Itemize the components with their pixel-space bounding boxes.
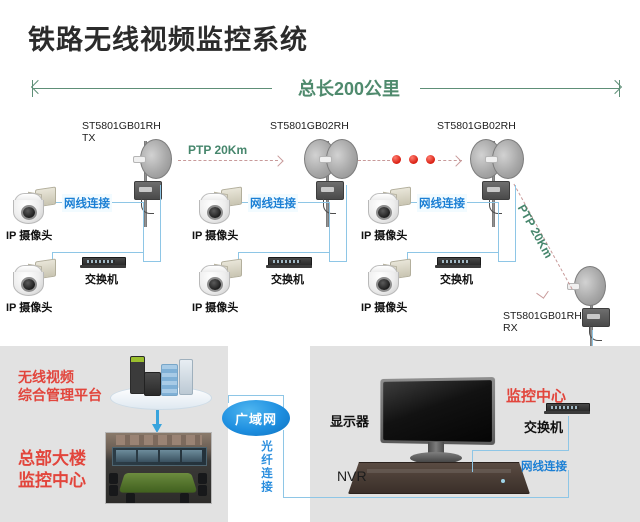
cable-switch-to-radio-v xyxy=(346,185,347,262)
cable-switch-fiber-v xyxy=(568,470,569,498)
switch-ports-icon xyxy=(273,260,301,263)
center-switch-label: 交换机 xyxy=(524,421,563,434)
ip-camera-label: IP 摄像头 xyxy=(192,302,238,315)
camera-lens-icon xyxy=(378,279,390,290)
wan-label: 广域网 xyxy=(235,409,277,428)
dish-feed-icon xyxy=(319,156,332,163)
switch-base-icon xyxy=(544,411,590,414)
ptp-link1-label: PTP 20Km xyxy=(188,143,247,157)
photo-chair xyxy=(109,473,118,484)
ip-camera-label: IP 摄像头 xyxy=(6,230,52,243)
ellipsis-dot xyxy=(426,155,435,164)
dish-antenna-icon xyxy=(492,139,524,179)
platform-label: 无线视频 综合管理平台 xyxy=(18,368,102,404)
center-cable-label: 网线连接 xyxy=(521,458,567,474)
span-line-left xyxy=(32,88,272,89)
dish-feed-icon xyxy=(485,156,498,163)
span-label: 总长200公里 xyxy=(274,75,424,101)
photo-conference-table xyxy=(119,473,198,493)
page-title: 铁路无线视频监控系统 xyxy=(28,18,308,57)
photo-wall-screen xyxy=(160,450,180,462)
nvr-device[interactable] xyxy=(348,462,530,494)
fiber-connection-label: 光纤连接 xyxy=(258,440,273,494)
photo-chair xyxy=(198,485,207,496)
nvr-led-icon xyxy=(501,479,505,483)
photo-chair xyxy=(198,473,207,484)
network-switch-label: 交换机 xyxy=(85,274,118,287)
station-label-relay1-line1: ST5801GB02RH xyxy=(270,120,349,132)
cable-connection-label: 网线连接 xyxy=(62,194,112,212)
cable-connection-label: 网线连接 xyxy=(417,194,467,212)
camera-lens-icon xyxy=(378,207,390,218)
photo-wall-screen xyxy=(116,450,136,462)
ip-camera-label: IP 摄像头 xyxy=(192,230,238,243)
station-label-relay2-line1: ST5801GB02RH xyxy=(437,120,516,132)
ellipsis-dot xyxy=(409,155,418,164)
network-switch[interactable] xyxy=(268,254,310,270)
photo-video-wall xyxy=(112,447,207,466)
ip-camera[interactable] xyxy=(365,258,411,298)
span-dimension: 总长200公里 xyxy=(22,75,622,103)
ip-camera[interactable] xyxy=(10,258,56,298)
camera-dome-icon xyxy=(13,272,44,296)
cable-fiber-bottom-h xyxy=(362,497,569,498)
camera-lens-icon xyxy=(209,279,221,290)
camera-group-3: IP 摄像头 IP 摄像头 网线连接 交换机 xyxy=(355,180,525,325)
ip-camera[interactable] xyxy=(196,258,242,298)
cable-switch-top xyxy=(329,261,347,262)
ip-camera[interactable] xyxy=(365,186,411,226)
monitor-screen-icon xyxy=(383,380,492,442)
ptp-link3-arrow-icon xyxy=(536,286,549,299)
switch-ports-icon xyxy=(551,406,579,409)
ip-camera-label: IP 摄像头 xyxy=(6,302,52,315)
nvr-strip-icon xyxy=(367,469,511,473)
ptp-link1-line xyxy=(178,160,278,161)
wan-left-wire-v xyxy=(228,395,229,403)
platform-down-arrow-icon xyxy=(156,410,159,426)
camera-dome-icon xyxy=(368,200,399,224)
station-label-tx-line1: ST5801GB01RH xyxy=(82,120,161,132)
hq-center-label-line1: 总部大楼 xyxy=(18,448,86,470)
nvr-label: NVR xyxy=(337,470,367,482)
camera-lens-icon xyxy=(23,279,35,290)
ip-camera-label: IP 摄像头 xyxy=(361,302,407,315)
photo-chair xyxy=(109,485,118,496)
hq-center-label-line2: 监控中心 xyxy=(18,470,86,492)
switch-base-icon xyxy=(80,265,126,268)
platform-label-line1: 无线视频 xyxy=(18,368,102,386)
platform-label-line2: 综合管理平台 xyxy=(18,386,102,404)
server-rack-icon xyxy=(179,359,193,395)
ptp-link1-arrow-icon xyxy=(272,155,283,166)
dish-antenna-icon xyxy=(140,139,172,179)
ip-camera[interactable] xyxy=(10,186,56,226)
ip-camera-label: IP 摄像头 xyxy=(361,230,407,243)
dish-antenna-icon xyxy=(326,139,358,179)
camera-group-1: IP 摄像头 IP 摄像头 网线连接 交换机 xyxy=(0,180,170,325)
span-arrow-left-icon xyxy=(31,80,45,94)
cable-switch-to-radio-v xyxy=(515,185,516,262)
antenna-cable-icon xyxy=(589,324,602,341)
dish-feed-icon xyxy=(133,156,146,163)
hq-center-label: 总部大楼 监控中心 xyxy=(18,448,86,492)
span-line-right xyxy=(420,88,620,89)
server-rack-icon xyxy=(130,356,145,394)
cable-nvr-to-switch-h xyxy=(472,450,569,451)
switch-ports-icon xyxy=(442,260,470,263)
network-switch[interactable] xyxy=(437,254,479,270)
monitor-frame-icon xyxy=(380,377,495,445)
display-monitor[interactable] xyxy=(378,378,494,470)
camera-dome-icon xyxy=(368,272,399,296)
monitor-label: 显示器 xyxy=(330,415,369,428)
station-label-relay2: ST5801GB02RH xyxy=(437,120,516,132)
photo-wall-screen xyxy=(138,450,158,462)
network-switch-label: 交换机 xyxy=(440,274,473,287)
ptp-link2-line-a xyxy=(358,160,390,161)
photo-chair xyxy=(126,493,135,504)
cable-switch-to-radio-v xyxy=(160,185,161,262)
switch-base-icon xyxy=(435,265,481,268)
server-rack-icon xyxy=(161,364,178,396)
photo-wall-screen xyxy=(182,450,202,462)
network-switch-center[interactable] xyxy=(546,400,588,416)
switch-ports-icon xyxy=(87,260,115,263)
dish-antenna-icon xyxy=(574,266,606,306)
fiber-wire-h xyxy=(283,497,363,498)
station-rx[interactable] xyxy=(556,262,632,354)
switch-base-icon xyxy=(266,265,312,268)
cable-switch-down-v xyxy=(568,416,569,451)
cable-nvr-v xyxy=(472,450,473,472)
network-switch-label: 交换机 xyxy=(271,274,304,287)
station-label-relay1: ST5801GB02RH xyxy=(270,120,349,132)
radio-led-icon xyxy=(587,314,600,319)
cable-connection-label: 网线连接 xyxy=(248,194,298,212)
ellipsis-dot xyxy=(392,155,401,164)
ip-camera[interactable] xyxy=(196,186,242,226)
wan-cloud[interactable]: 广域网 xyxy=(222,400,290,436)
management-platform-icon xyxy=(108,352,212,410)
cable-switch-top xyxy=(498,261,516,262)
cable-switch-top xyxy=(143,261,161,262)
network-switch[interactable] xyxy=(82,254,124,270)
camera-lens-icon xyxy=(209,207,221,218)
fiber-wire-v xyxy=(283,430,284,498)
camera-dome-icon xyxy=(199,200,230,224)
camera-group-2: IP 摄像头 IP 摄像头 网线连接 交换机 xyxy=(186,180,356,325)
span-cap-right xyxy=(619,80,620,97)
camera-dome-icon xyxy=(199,272,230,296)
control-room-photo xyxy=(105,432,212,504)
photo-chair xyxy=(180,493,189,504)
diagram-canvas: 铁路无线视频监控系统 总长200公里 ST5801GB01RH TX ST580… xyxy=(0,0,640,522)
server-rack-icon xyxy=(144,372,161,396)
camera-dome-icon xyxy=(13,200,44,224)
camera-lens-icon xyxy=(23,207,35,218)
photo-ceiling xyxy=(116,435,202,445)
wan-top-wire-h xyxy=(228,395,284,396)
